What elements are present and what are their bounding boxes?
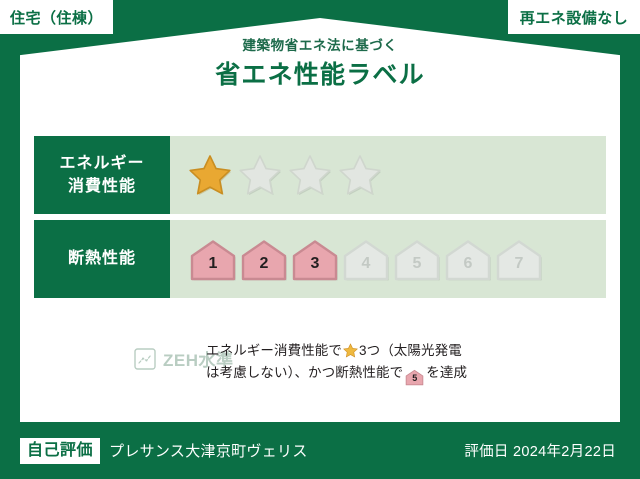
inline-star-icon [343, 343, 358, 358]
house-rating: 1234567 [188, 237, 544, 281]
house-badge-value: 6 [464, 256, 473, 281]
building-name: プレサンス大津京町ヴェリス [109, 440, 308, 461]
label-subtitle: 建築物省エネ法に基づく [0, 38, 640, 54]
zeh-chart-icon [134, 348, 156, 370]
star-empty-icon [338, 153, 382, 197]
row-insulation-label: 断熱性能 [34, 220, 170, 298]
title-block: 建築物省エネ法に基づく 省エネ性能ラベル [0, 38, 640, 90]
evaluation-date: 評価日 2024年2月22日 [464, 440, 640, 461]
star-empty-icon [288, 153, 332, 197]
house-badge-value: 5 [413, 256, 422, 281]
house-badge-value: 7 [515, 256, 524, 281]
house-badge-filled: 2 [239, 237, 289, 281]
energy-label-card: 住宅（住棟） 再エネ設備なし 建築物省エネ法に基づく 省エネ性能ラベル エネルギ… [0, 0, 640, 479]
row-label-line-1: 断熱性能 [68, 247, 136, 270]
inline-house-value: 5 [405, 369, 424, 388]
house-badge-empty: 4 [341, 237, 391, 281]
house-badge-value: 4 [362, 256, 371, 281]
row-insulation-performance: 断熱性能 1234567 [34, 220, 606, 298]
footer-bar: 自己評価 プレサンス大津京町ヴェリス 評価日 2024年2月22日 [0, 422, 640, 479]
house-badge-empty: 7 [494, 237, 544, 281]
rating-rows: エネルギー 消費性能 断熱性能 1234567 [34, 136, 606, 304]
zeh-desc-part-3: を達成 [426, 365, 467, 380]
self-evaluation-badge: 自己評価 [20, 438, 100, 464]
zeh-section: ZEH水準 エネルギー消費性能で3つ（太陽光発電は考慮しない）、かつ断熱性能で5… [34, 336, 606, 386]
zeh-description: エネルギー消費性能で3つ（太陽光発電は考慮しない）、かつ断熱性能で5を達成 [206, 336, 467, 386]
star-empty-icon [238, 153, 282, 197]
zeh-mark: ZEH水準 [34, 336, 206, 371]
house-badge-filled: 3 [290, 237, 340, 281]
page-title: 省エネ性能ラベル [0, 61, 640, 90]
row-label-line-2: 消費性能 [68, 175, 136, 198]
star-filled-icon [188, 153, 232, 197]
footer-left: 自己評価 プレサンス大津京町ヴェリス [0, 438, 308, 464]
house-badge-empty: 5 [392, 237, 442, 281]
zeh-desc-star-count: 3つ（太陽光発電 [359, 343, 462, 358]
house-badge-value: 2 [260, 256, 269, 281]
zeh-desc-part-1: エネルギー消費性能で [206, 343, 342, 358]
tag-renewable-equipment: 再エネ設備なし [508, 0, 640, 34]
tag-building-type: 住宅（住棟） [0, 0, 113, 34]
house-badge-value: 3 [311, 256, 320, 281]
row-energy-consumption: エネルギー 消費性能 [34, 136, 606, 214]
zeh-desc-part-2: は考慮しない）、かつ断熱性能で [206, 365, 403, 380]
row-energy-consumption-label: エネルギー 消費性能 [34, 136, 170, 214]
row-energy-consumption-body [170, 136, 606, 214]
house-badge-filled: 1 [188, 237, 238, 281]
row-insulation-body: 1234567 [170, 220, 606, 298]
row-label-line-1: エネルギー [59, 152, 144, 175]
inline-house-badge: 5 [405, 369, 424, 386]
house-badge-empty: 6 [443, 237, 493, 281]
star-rating [188, 153, 382, 197]
house-badge-value: 1 [209, 256, 218, 281]
